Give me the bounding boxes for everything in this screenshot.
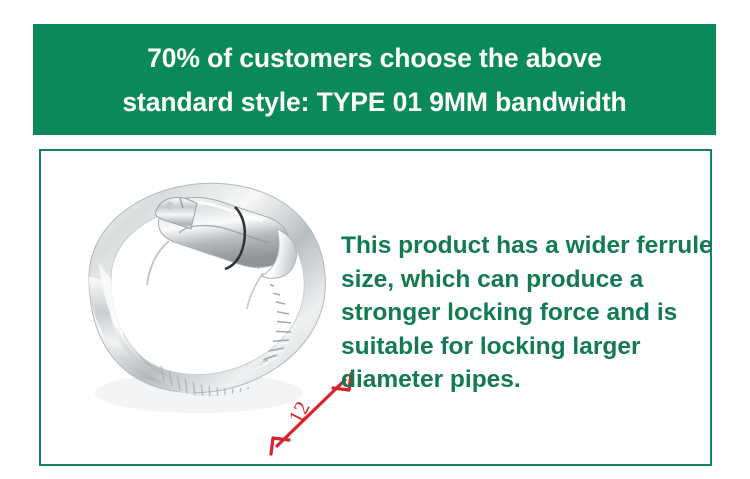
description-line-2: size, which can produce a <box>341 263 709 297</box>
content-card: 12 This product has a wider ferrule size… <box>39 149 712 466</box>
product-photo <box>49 157 349 457</box>
hose-clamp-illustration <box>49 157 349 457</box>
product-description: This product has a wider ferrule size, w… <box>341 229 709 397</box>
headline-line-1: 70% of customers choose the above <box>147 36 602 80</box>
description-line-1: This product has a wider ferrule <box>341 229 709 263</box>
headline-line-2: standard style: TYPE 01 9MM bandwidth <box>122 80 626 124</box>
description-line-3: stronger locking force and is <box>341 296 709 330</box>
description-line-5: diameter pipes. <box>341 363 709 397</box>
description-line-4: suitable for locking larger <box>341 330 709 364</box>
promo-banner-page: 70% of customers choose the above standa… <box>0 0 750 479</box>
headline-banner: 70% of customers choose the above standa… <box>33 24 716 135</box>
